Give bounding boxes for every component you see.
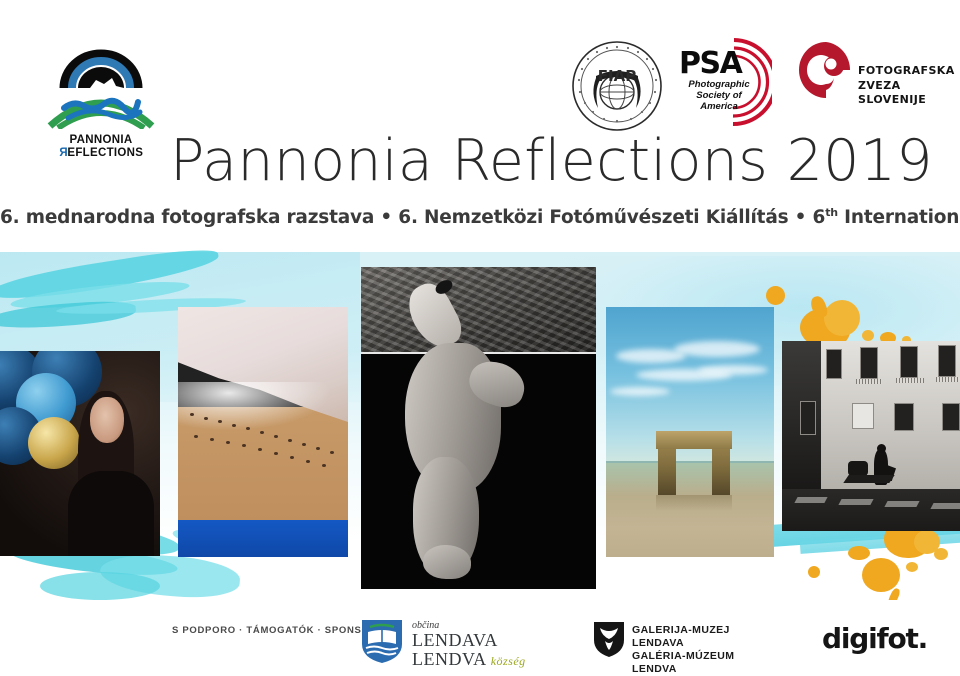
turquoise-splash-8 xyxy=(40,572,160,600)
galerija-crest-icon xyxy=(592,620,626,658)
fzs-line3: SLOVENIJE xyxy=(858,93,926,106)
turquoise-splash-7 xyxy=(99,551,241,601)
orange-splash-1 xyxy=(766,286,785,305)
galerija-wordmark: GALERIJA-MUZEJ LENDAVA GALÉRIA-MÚZEUM LE… xyxy=(632,624,772,676)
psa-line1: Photographic xyxy=(688,79,749,90)
fzs-line2: ZVEZA xyxy=(858,79,901,92)
photo5-window-8 xyxy=(942,403,960,431)
orange-splash-10 xyxy=(848,546,870,560)
photo5-crosswalk-4 xyxy=(930,503,960,509)
digifot-logo: digifot. xyxy=(822,622,944,658)
orange-splash-9 xyxy=(914,530,940,554)
lendava-wordmark: občina LENDAVA LENDVA község xyxy=(412,620,526,671)
logo-caption-line2: EFLECTIONS xyxy=(67,147,143,159)
turquoise-splash-3 xyxy=(0,299,137,331)
page-title: Pannonia Reflections 2019 xyxy=(170,124,960,198)
fzs-name: FOTOGRAFSKA ZVEZA SLOVENIJE xyxy=(858,64,955,108)
poster-canvas: PANNONIA REFLECTIONS xyxy=(0,0,960,676)
psa-logo: PSA Photographic Society of America xyxy=(676,32,772,134)
cyan-stripe-right-2 xyxy=(800,530,960,554)
sponsor-label: S PODPORO · TÁMOGATÓK · SPONSORS: xyxy=(172,625,388,636)
turquoise-splash-2 xyxy=(10,277,191,314)
photo5-balcony-1 xyxy=(856,379,882,384)
lendava-line2-wrap: LENDVA község xyxy=(412,650,526,671)
psa-line2: Society of xyxy=(696,90,741,101)
polar-bear-rear-paw xyxy=(423,545,471,579)
lendava-kozseg: község xyxy=(491,654,526,668)
fiap-logo: FIAP xyxy=(566,36,668,136)
street-shadow xyxy=(843,475,894,483)
photo-polar-bear xyxy=(361,267,596,589)
portrait-body xyxy=(68,471,154,556)
orange-splash-5 xyxy=(862,330,874,341)
photo5-window-1 xyxy=(826,349,842,379)
orange-splash-15 xyxy=(934,548,948,560)
orange-splash-3 xyxy=(824,300,860,336)
lendava-shield-icon xyxy=(360,618,404,664)
subtitle-slovene: 6. mednarodna fotografska razstava xyxy=(0,207,374,228)
psa-fullname: Photographic Society of America xyxy=(681,79,757,112)
fzs-spiral-icon xyxy=(798,40,854,102)
lendava-municipality-logo: občina LENDAVA LENDVA község xyxy=(360,618,535,664)
photo4-horizon xyxy=(606,461,774,463)
photo-street-walker xyxy=(782,341,960,531)
psa-line3: America xyxy=(700,101,738,112)
subtitle-english-prefix: 6 xyxy=(813,207,826,228)
logo-caption-reversed-r: R xyxy=(59,147,68,160)
photo2-sea xyxy=(178,520,348,558)
subtitle-hungarian: 6. Nemzetközi Fotóművészeti Kiállítás xyxy=(398,207,788,228)
logo-caption: PANNONIA REFLECTIONS xyxy=(44,134,158,160)
fzs-line1: FOTOGRAFSKA xyxy=(858,64,955,77)
galerija-line1: GALERIJA-MUZEJ LENDAVA xyxy=(632,624,772,650)
logo-caption-line1: PANNONIA xyxy=(70,134,133,146)
sea-arch-reflection xyxy=(656,495,732,511)
orange-splash-12 xyxy=(906,562,918,572)
photo5-window-5 xyxy=(800,401,816,435)
balloon-gold xyxy=(28,417,80,469)
subtitle-separator-1: • xyxy=(380,207,392,228)
orange-splash-13 xyxy=(808,566,820,578)
photo5-window-3 xyxy=(900,346,918,378)
photo5-crosswalk-1 xyxy=(794,497,827,503)
photo5-window-2 xyxy=(860,347,878,379)
photo-portrait-balloons xyxy=(0,351,160,556)
psa-abbr: PSA xyxy=(679,46,741,81)
street-suitcase xyxy=(848,461,868,476)
lendava-line2: LENDVA xyxy=(412,649,486,669)
fzs-logo: FOTOGRAFSKA ZVEZA SLOVENIJE xyxy=(798,38,934,134)
pannonia-reflections-logo: PANNONIA REFLECTIONS xyxy=(44,36,158,166)
photo5-balcony-3 xyxy=(936,377,960,382)
pannonia-logo-mark xyxy=(44,36,158,132)
portrait-face xyxy=(90,397,124,443)
orange-splash-11 xyxy=(862,558,900,592)
photo4-cloud-2 xyxy=(674,341,760,357)
photo4-cloud-4 xyxy=(698,365,768,375)
subtitle: 6. mednarodna fotografska razstava • 6. … xyxy=(0,206,960,228)
street-walker-head xyxy=(877,444,886,453)
fiap-seal-icon: FIAP xyxy=(566,36,668,136)
galerija-line2: GALÉRIA-MÚZEUM LENDVA xyxy=(632,650,772,676)
photo-sea-arch xyxy=(606,307,774,557)
photo3-rock-texture xyxy=(361,267,596,354)
sea-arch-lintel xyxy=(656,431,732,449)
photo5-crosswalk-2 xyxy=(838,499,873,505)
lendava-line1: LENDAVA xyxy=(412,631,526,650)
photo5-street xyxy=(782,489,960,531)
photo-aerial-beach xyxy=(178,307,348,557)
turquoise-splash-1 xyxy=(0,244,221,306)
fiap-abbr-text: FIAP xyxy=(598,67,636,85)
photo5-balcony-2 xyxy=(896,378,924,383)
subtitle-english-rest: International Salon of Photography xyxy=(838,207,960,228)
subtitle-separator-2: • xyxy=(795,207,807,228)
photo2-foam-edge xyxy=(178,382,348,437)
orange-splash-4 xyxy=(809,294,830,319)
photo5-window-7 xyxy=(894,403,914,431)
photo5-window-6 xyxy=(852,403,874,429)
subtitle-ordinal-suffix: th xyxy=(825,206,838,219)
photo5-window-4 xyxy=(938,345,956,377)
photo5-crosswalk-3 xyxy=(884,501,919,507)
galerija-muzej-lendava-logo: GALERIJA-MUZEJ LENDAVA GALÉRIA-MÚZEUM LE… xyxy=(592,619,772,663)
photo4-cloud-5 xyxy=(610,387,670,396)
